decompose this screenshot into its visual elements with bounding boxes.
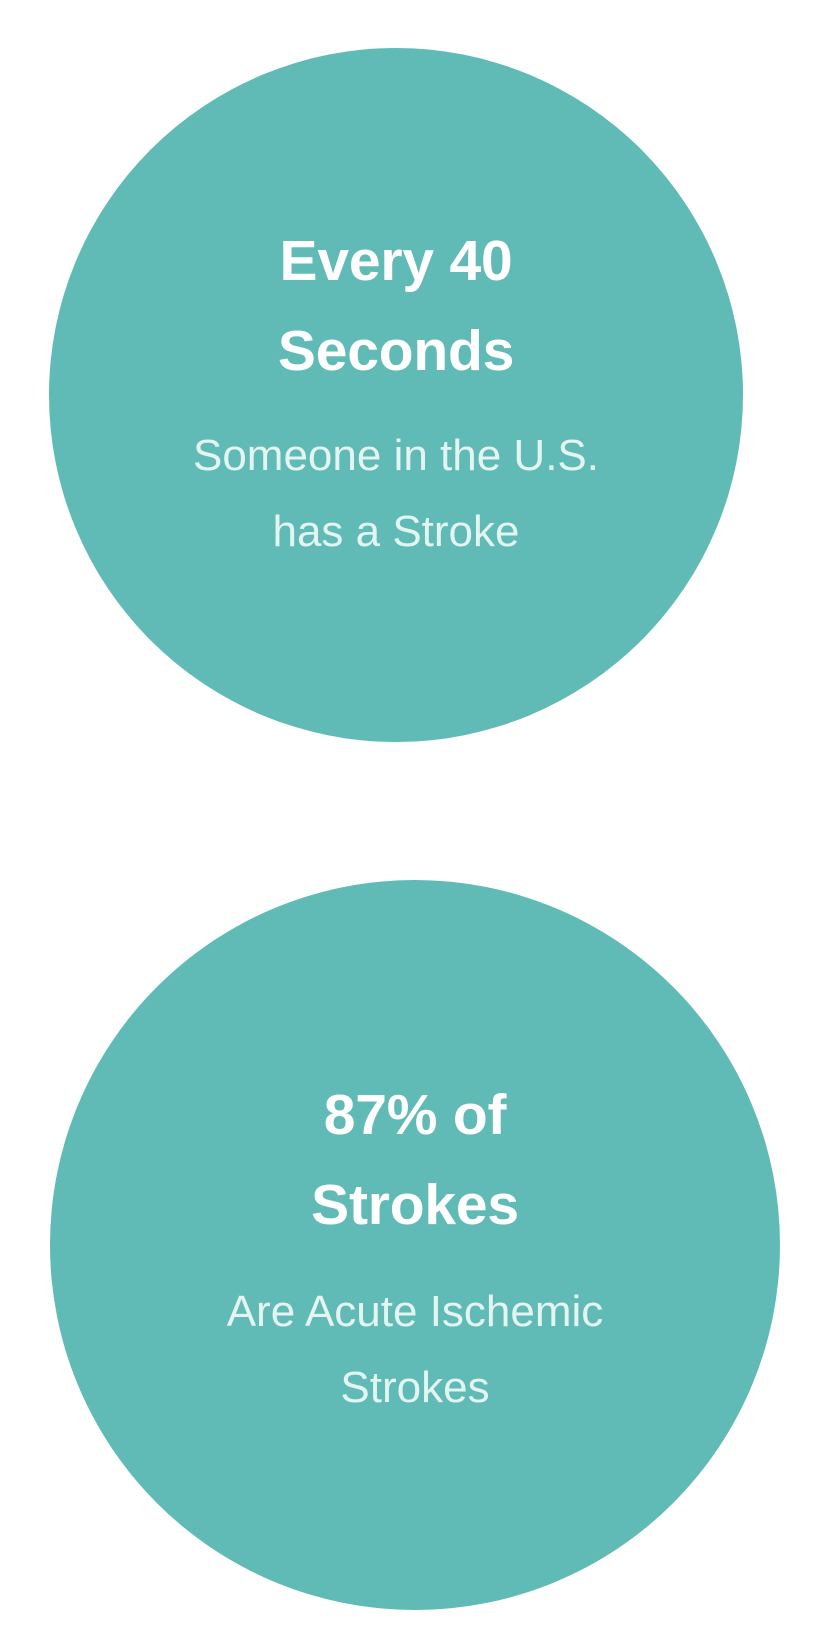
infographic-canvas: Every 40 Seconds Someone in the U.S. has…	[0, 0, 824, 1632]
stat-circle-stroke-frequency: Every 40 Seconds Someone in the U.S. has…	[49, 48, 743, 742]
stat-circle-ischemic-share: 87% of Strokes Are Acute Ischemic Stroke…	[50, 880, 780, 1610]
stat-headline: 87% of Strokes	[311, 1070, 519, 1250]
stat-body: Are Acute Ischemic Strokes	[227, 1274, 604, 1425]
stat-body: Someone in the U.S. has a Stroke	[193, 418, 599, 569]
stat-headline: Every 40 Seconds	[278, 216, 514, 396]
